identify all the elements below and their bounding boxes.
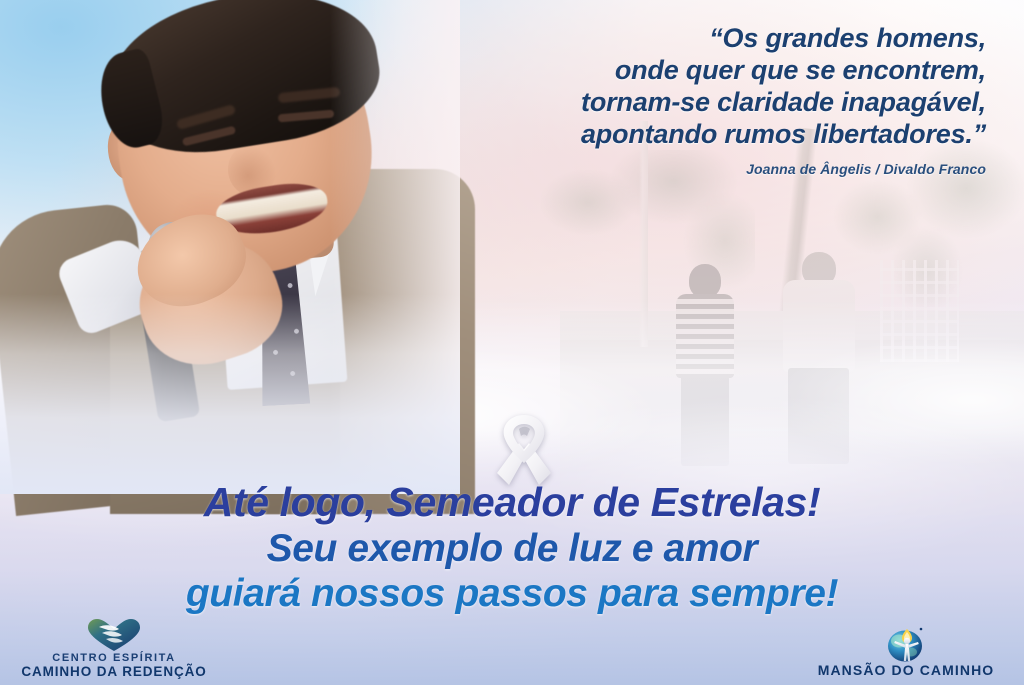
logo-right-text: MANSÃO DO CAMINHO [818,663,995,679]
logo-left-text: CENTRO ESPÍRITA CAMINHO DA REDENÇÃO [21,652,206,679]
logo-right-line-2: MANSÃO DO CAMINHO [818,663,995,679]
quotation-block: “Os grandes homens, onde quer que se enc… [366,22,986,177]
headline-line-3: guiará nossos passos para sempre! [0,574,1024,613]
memorial-banner: “Os grandes homens, onde quer que se enc… [0,0,1024,685]
figure-head [689,264,721,298]
headline-line-1: Até logo, Semeador de Estrelas! [0,482,1024,523]
tribute-headline: Até logo, Semeador de Estrelas! Seu exem… [0,482,1024,613]
heart-hands-icon [86,618,142,652]
quote-line-4: apontando rumos libertadores.” [366,118,986,150]
quote-line-2: onde quer que se encontrem, [366,54,986,86]
logo-left-line-2: CAMINHO DA REDENÇÃO [21,664,206,679]
quote-line-1: “Os grandes homens, [366,22,986,54]
quote-line-3: tornam-se claridade inapagável, [366,86,986,118]
logo-centro-espirita-caminho-da-redencao: CENTRO ESPÍRITA CAMINHO DA REDENÇÃO [14,618,214,679]
logo-mansao-do-caminho: MANSÃO DO CAMINHO [800,621,1012,679]
globe-figure-flame-icon [881,621,931,663]
white-mourning-ribbon-icon [489,409,559,485]
quote-attribution: Joanna de Ângelis / Divaldo Franco [366,161,986,177]
headline-line-2: Seu exemplo de luz e amor [0,529,1024,568]
portrait-bottom-fade [0,294,460,494]
logo-left-line-1: CENTRO ESPÍRITA [21,652,206,664]
